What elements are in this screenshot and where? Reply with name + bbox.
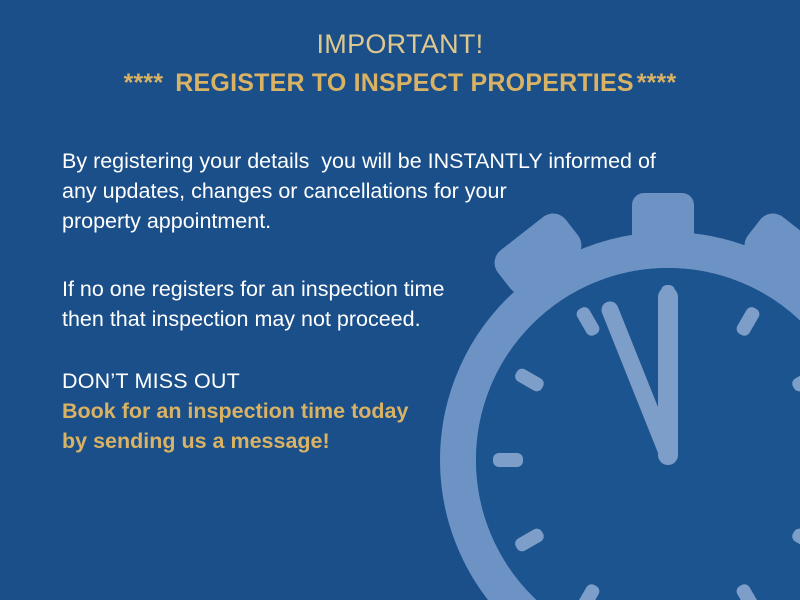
promo-slide: IMPORTANT! ****REGISTER TO INSPECT PROPE… <box>0 0 800 600</box>
call-to-action-block: DON’T MISS OUT Book for an inspection ti… <box>62 366 722 456</box>
page-title-important: IMPORTANT! <box>0 26 800 62</box>
slide-content: IMPORTANT! ****REGISTER TO INSPECT PROPE… <box>0 0 800 600</box>
paragraph-line: If no one registers for an inspection ti… <box>62 274 722 304</box>
stars-right: **** <box>637 69 677 97</box>
register-headline-text: REGISTER TO INSPECT PROPERTIES <box>175 69 633 97</box>
paragraph-line: then that inspection may not proceed. <box>62 304 722 334</box>
paragraph-line: By registering your details you will be … <box>62 146 722 176</box>
page-title-register: ****REGISTER TO INSPECT PROPERTIES**** <box>0 66 800 100</box>
cta-dont-miss-out: DON’T MISS OUT <box>62 366 722 396</box>
paragraph-registering-details: By registering your details you will be … <box>62 146 722 236</box>
cta-book-inspection: Book for an inspection time today <box>62 396 722 426</box>
paragraph-no-registration-warning: If no one registers for an inspection ti… <box>62 274 722 334</box>
cta-send-message: by sending us a message! <box>62 426 722 456</box>
paragraph-line: property appointment. <box>62 206 722 236</box>
paragraph-line: any updates, changes or cancellations fo… <box>62 176 722 206</box>
stars-left: **** <box>124 69 164 97</box>
heading-block: IMPORTANT! ****REGISTER TO INSPECT PROPE… <box>0 26 800 100</box>
